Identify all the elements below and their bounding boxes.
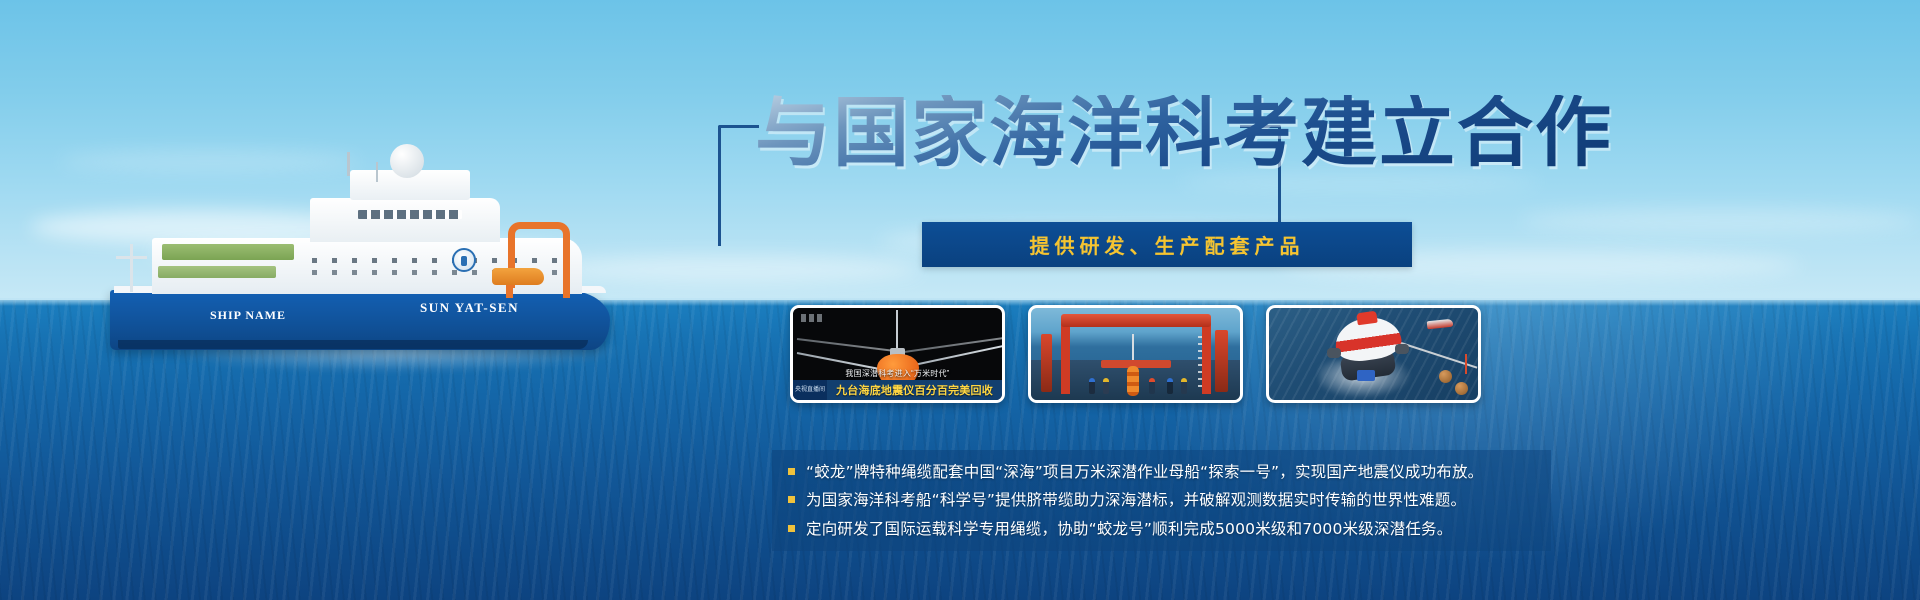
crew-member [1089,381,1095,394]
crew-member [1167,381,1173,394]
gantry-top-beam [1061,314,1211,327]
bullet-dot-icon [788,496,795,503]
subtitle-bar: 提供研发、生产配套产品 [922,222,1412,267]
subtitle-text: 提供研发、生产配套产品 [1030,230,1305,259]
crew-member [1103,381,1109,394]
ship-name-port: SHIP NAME [210,308,286,323]
bullet-text: 定向研发了国际运载科学专用绳缆，协助“蛟龙号”顺利完成5000米级和7000米级… [806,519,1452,539]
ship-name-stern: SUN YAT-SEN [420,300,519,316]
headline-container: 与国家海洋科考建立合作 [755,95,1613,171]
ship-boot-stripe [118,340,588,349]
bullet-text: 为国家海洋科考船“科学号”提供脐带缆助力深海潜标，并破解观测数据实时传输的世界性… [806,490,1466,510]
cable [797,338,896,352]
deck-mast [1215,330,1228,392]
thumb-caption-bar: 央视直播间 九台海底地震仪百分百完美回收 [793,380,1002,400]
ship-mast [376,162,378,182]
gantry-leg [1202,362,1211,394]
list-item: 为国家海洋科考船“科学号”提供脐带缆助力深海潜标，并破解观测数据实时传输的世界性… [788,490,1533,510]
ship-funnel-badge [452,248,476,272]
mooring-floats [1127,366,1139,396]
crane-leg [563,280,570,298]
list-item: “蛟龙”牌特种绳缆配套中国“深海”项目万米深潜作业母船“探索一号”，实现国产地震… [788,462,1533,482]
bracket-left [718,125,759,246]
crew-member [1149,381,1155,394]
lifting-wire [896,310,898,352]
lifeboat [492,268,544,285]
thumb-seismometer-tv[interactable]: 我国深潜科考进入“万米时代” 央视直播间 九台海底地震仪百分百完美回收 [790,305,1005,403]
hard-hat [1149,378,1155,382]
hard-hat [1089,378,1095,382]
thumb-caption-headline: 九台海底地震仪百分百完美回收 [827,382,1002,398]
hero-banner: SHIP NAME SUN YAT-SEN 与国家海洋科考建立合作 提供研发、生… [0,0,1920,600]
bow-crossbar [116,256,147,259]
crew-member [1181,381,1187,394]
cloud [1520,208,1920,234]
radome-icon [390,144,424,178]
thumb-caption-sub: 我国深潜科考进入“万米时代” [793,368,1002,379]
gantry-leg [1061,362,1070,394]
ship-mast [347,152,350,176]
list-item: 定向研发了国际运载科学专用绳缆，协助“蛟龙号”顺利完成5000米级和7000米级… [788,519,1533,539]
research-vessel: SHIP NAME SUN YAT-SEN [100,140,620,370]
buoy-flag [1465,354,1467,374]
marker-buoy [1455,382,1468,395]
ship-deckhouse [310,198,500,242]
hoist-wire [1132,334,1134,362]
thumb-caption-tag: 央视直播间 [793,380,827,400]
tv-channel-logo-icon [801,314,823,322]
bow-mast [130,244,133,292]
hard-hat [1167,378,1173,382]
bullet-dot-icon [788,468,795,475]
cable [897,337,1004,354]
submersible-panel [1357,370,1375,381]
thumbnail-gallery: 我国深潜科考进入“万米时代” 央视直播间 九台海底地震仪百分百完美回收 [790,305,1481,403]
thumb-deck-crane[interactable] [1028,305,1243,403]
hard-hat [1103,378,1109,382]
ship-helideck [162,244,294,260]
deck-mast [1041,334,1052,392]
feature-bullet-panel: “蛟龙”牌特种绳缆配套中国“深海”项目万米深潜作业母船“探索一号”，实现国产地震… [772,450,1551,551]
thruster [1327,348,1341,358]
bullet-text: “蛟龙”牌特种绳缆配套中国“深海”项目万米深潜作业母船“探索一号”，实现国产地震… [806,462,1483,482]
thruster [1395,344,1409,354]
page-title: 与国家海洋科考建立合作 [755,95,1613,171]
ship-working-deck [158,266,276,278]
thumb-jiaolong-submersible[interactable] [1266,305,1481,403]
bridge-windows [358,210,462,219]
marker-buoy [1439,370,1452,383]
hard-hat [1181,378,1187,382]
bullet-dot-icon [788,525,795,532]
